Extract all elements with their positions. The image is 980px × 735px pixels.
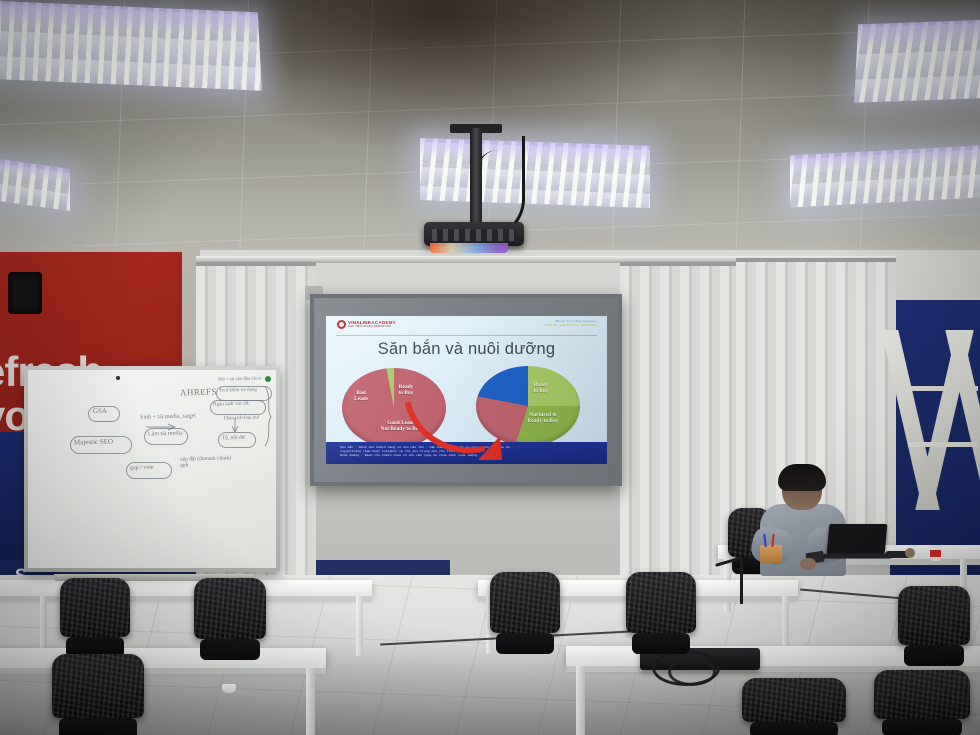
- slide-title: Săn bắn và nuôi dưỡng: [326, 340, 607, 359]
- whiteboard-note: Ngân xuất vào DL: [213, 402, 250, 408]
- wall-speaker-icon: [8, 272, 42, 314]
- whiteboard-note: AHREFS: [180, 388, 217, 399]
- microphone-head-icon: [905, 548, 915, 558]
- logo-brand: VINALINK: [348, 320, 371, 325]
- whiteboard-note: gap / vote: [130, 465, 154, 472]
- table-mid-left[interactable]: [0, 580, 372, 596]
- whiteboard-note: xếp đặt (domain chính) qnh: [180, 455, 231, 468]
- logo-tagline: HỌC VIỆN DIGITAL MARKETING: [348, 326, 396, 329]
- microphone-stand: [740, 560, 743, 604]
- slide-header-right: Where Your Idea Company DIGITAL MARKETIN…: [545, 320, 597, 328]
- ceiling-light-icon: [854, 15, 980, 102]
- coiled-cable: [668, 658, 716, 686]
- table-leg: [306, 668, 315, 735]
- ceiling-light-icon: [0, 0, 262, 91]
- laptop-keyboard[interactable]: [820, 554, 892, 559]
- whiteboard-note: Majestic SEO: [74, 438, 113, 447]
- pen-holder[interactable]: [760, 545, 782, 563]
- whiteboard-arrow-icon: [230, 418, 240, 439]
- header-right-line2: DIGITAL MARKETING TRAINING: [545, 324, 597, 328]
- whiteboard-note: Tool kiểm tra dạng: [219, 388, 257, 394]
- logo-brand-suffix: ACADEMY: [371, 320, 396, 325]
- whiteboard-magnet-icon: [265, 376, 271, 382]
- table-leg: [576, 666, 585, 735]
- whiteboard-note: Nội + tải vào đầu vào/ợ: [218, 375, 262, 381]
- pie-segment-label: Ready to Buy: [388, 384, 424, 397]
- pie-segment-label: Ready to Buy: [522, 382, 560, 395]
- slide-header-divider: [336, 335, 597, 336]
- ceiling-light-icon: [420, 138, 650, 208]
- ring-logo-icon: [337, 320, 346, 329]
- table-leg: [782, 596, 789, 650]
- table-front-left[interactable]: [0, 648, 326, 668]
- whiteboard-note: GSA: [93, 408, 107, 416]
- chair-back-1[interactable]: [898, 586, 970, 666]
- chair-mid-3[interactable]: [490, 572, 560, 654]
- vertical-blinds[interactable]: [620, 262, 740, 584]
- pie-segment-label: Bad Leads: [344, 390, 378, 403]
- v-shaped-shelf: [902, 330, 980, 510]
- projector-ports: [432, 229, 516, 241]
- slide-canvas: VINALINKACADEMY HỌC VIỆN DIGITAL MARKETI…: [326, 316, 607, 464]
- person-hair: [778, 464, 826, 491]
- slide-header: VINALINKACADEMY HỌC VIỆN DIGITAL MARKETI…: [326, 316, 607, 335]
- laptop-screen[interactable]: [827, 524, 888, 554]
- whiteboard-brace-icon: [264, 386, 274, 453]
- projector-lens-icon: [430, 243, 508, 253]
- chair-front-2[interactable]: [742, 678, 846, 735]
- projection-screen[interactable]: VINALINKACADEMY HỌC VIỆN DIGITAL MARKETI…: [310, 294, 622, 486]
- whiteboard-surface[interactable]: GSA Majestic SEO gap / vote Sinh + tải m…: [28, 370, 276, 568]
- paper-cup[interactable]: [222, 684, 236, 693]
- classroom-scene: efresh yo nin S VINALINKACADEMY: [0, 0, 980, 735]
- table-leg: [356, 596, 363, 656]
- whiteboard-arrow-icon: [146, 418, 180, 436]
- paper-cup[interactable]: [930, 545, 941, 561]
- nurture-arrow: [404, 402, 526, 460]
- vinalink-logo: VINALINKACADEMY HỌC VIỆN DIGITAL MARKETI…: [337, 320, 396, 329]
- chair-mid-1[interactable]: [60, 578, 130, 658]
- ceiling-light-icon: [790, 144, 980, 207]
- whiteboard-marker-dot: [116, 376, 120, 380]
- projector-mount-pole: [470, 128, 482, 236]
- table-leg: [40, 596, 47, 652]
- chair-front-1[interactable]: [52, 654, 144, 735]
- chair-mid-4[interactable]: [626, 572, 696, 654]
- chair-front-3[interactable]: [874, 670, 970, 735]
- chair-mid-2[interactable]: [194, 578, 266, 660]
- person-hand: [800, 558, 816, 570]
- whiteboard[interactable]: GSA Majestic SEO gap / vote Sinh + tải m…: [24, 366, 280, 572]
- laptop[interactable]: [822, 524, 888, 560]
